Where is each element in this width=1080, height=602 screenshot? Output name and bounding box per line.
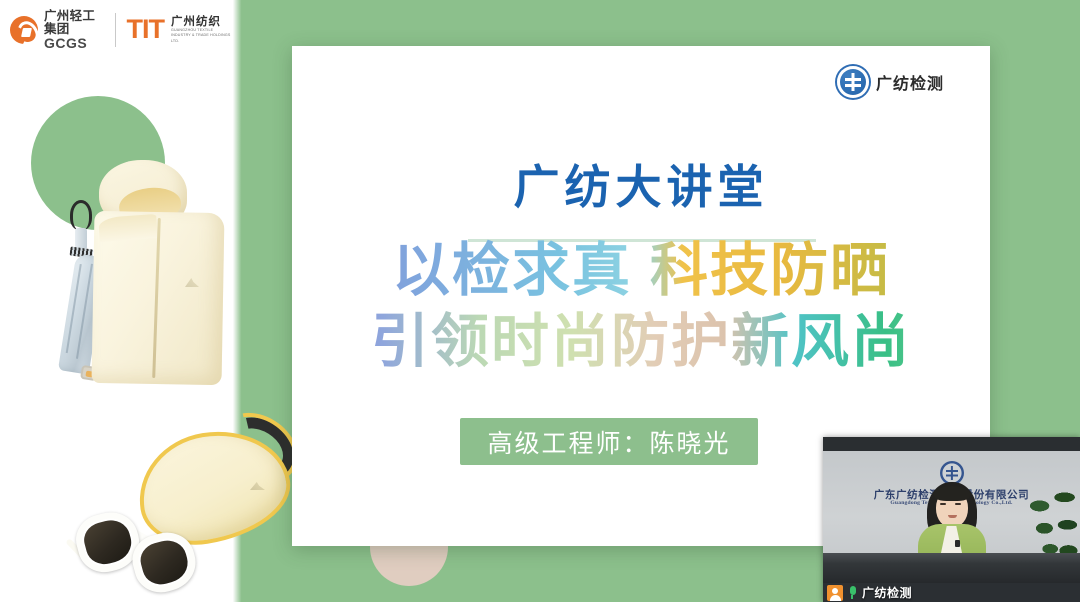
tit-name-en: GUANGZHOU TEXTILE INDUSTRY & TRADE HOLDI…: [171, 28, 233, 44]
gftc-circular-emblem-icon: [837, 66, 869, 98]
video-pip-panel[interactable]: 广东广纺检测技术股份有限公司 Guangdong Textile Testing…: [823, 437, 1080, 602]
headline-line-2: 引领时尚防护新风尚: [292, 307, 990, 378]
presenter-video-figure: [910, 482, 994, 564]
gcgs-logo: 广州轻工集团 GCGS: [10, 10, 103, 51]
sun-protection-jacket-image: [93, 160, 223, 385]
pip-participant-name: 广纺检测: [862, 584, 912, 601]
tit-logo: TIT 广州纺织 GUANGZHOU TEXTILE INDUSTRY & TR…: [127, 16, 234, 44]
presenter-left-eye: [940, 503, 946, 505]
jacket-shoulder: [98, 214, 158, 242]
gftc-brand-name: 广纺检测: [876, 70, 944, 94]
user-avatar-icon: [827, 585, 843, 601]
gcgs-logo-text: 广州轻工集团 GCGS: [44, 10, 103, 51]
umbrella-strap: [70, 200, 92, 230]
tit-wordmark: TIT: [127, 16, 165, 43]
gcgs-name-en: GCGS: [44, 36, 103, 51]
gftc-brand-logo: 广纺检测: [837, 66, 944, 98]
presenter-name: 高级工程师：陈晓光: [487, 424, 730, 460]
corporate-logo-bar: 广州轻工集团 GCGS TIT 广州纺织 GUANGZHOU TEXTILE I…: [0, 0, 233, 60]
presenter-lapel-mic-icon: [955, 540, 960, 547]
logo-divider: [115, 13, 116, 47]
pip-name-bar: 广纺检测: [823, 583, 1080, 602]
pip-desk: [823, 553, 1080, 583]
tit-logo-text: 广州纺织 GUANGZHOU TEXTILE INDUSTRY & TRADE …: [171, 16, 233, 44]
gcgs-name-cn: 广州轻工集团: [44, 10, 103, 36]
presenter-banner: 高级工程师：陈晓光: [460, 418, 758, 465]
microphone-icon[interactable]: [848, 586, 857, 600]
pip-top-bar: [823, 437, 1080, 451]
headline-line-1: 以检求真 科技防晒: [292, 236, 990, 307]
tit-name-cn: 广州纺织: [171, 16, 233, 28]
slide-headline: 以检求真 科技防晒 引领时尚防护新风尚: [292, 236, 990, 378]
slide-title: 广纺大讲堂: [292, 151, 990, 217]
sunglasses-image: [74, 498, 223, 602]
presenter-fringe: [934, 486, 970, 501]
pip-video-scene: 广东广纺检测技术股份有限公司 Guangdong Textile Testing…: [823, 451, 1080, 583]
gcgs-g-logo-icon: [10, 16, 38, 44]
screen-capture-stage: 广州轻工集团 GCGS TIT 广州纺织 GUANGZHOU TEXTILE I…: [0, 0, 1080, 602]
presenter-right-eye: [955, 503, 961, 505]
